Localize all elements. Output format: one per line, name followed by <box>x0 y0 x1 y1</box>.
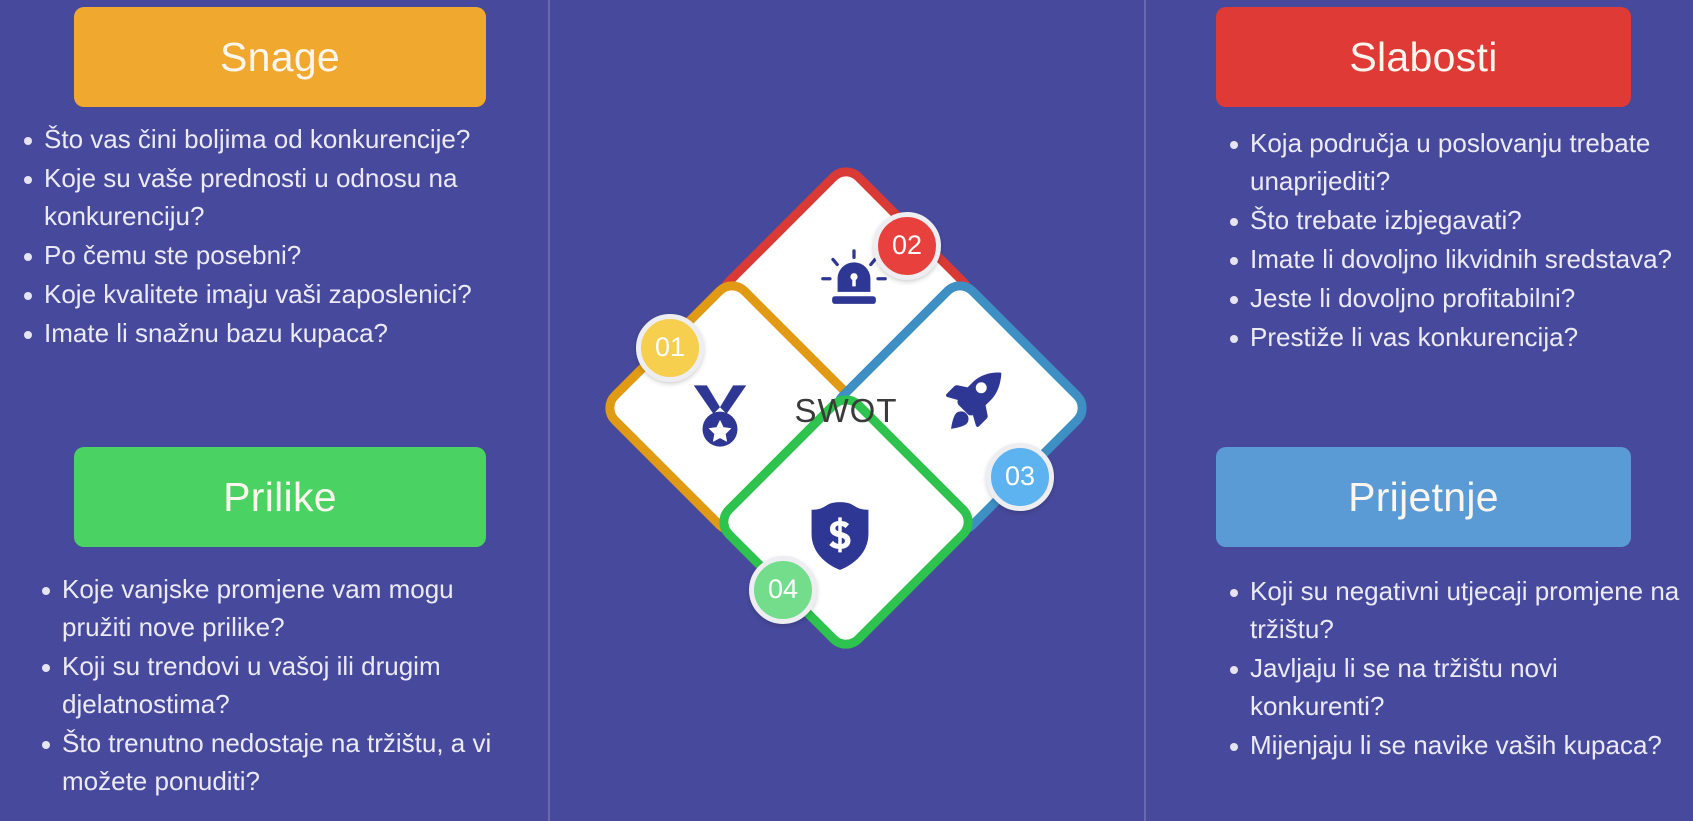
badge-01[interactable]: 01 <box>636 314 704 382</box>
opportunities-title-pill: Prilike <box>74 447 486 547</box>
list-item: Koje su vaše prednosti u odnosu na konku… <box>14 160 528 236</box>
swot-infographic: Snage Što vas čini boljima od konkurenci… <box>0 0 1693 821</box>
list-item: Koji su negativni utjecaji promjene na t… <box>1220 573 1683 649</box>
list-item: Što vas čini boljima od konkurencije? <box>14 121 528 159</box>
list-item: Jeste li dovoljno profitabilni? <box>1220 280 1683 318</box>
list-item: Koje kvalitete imaju vaši zaposlenici? <box>14 276 528 314</box>
list-item: Što trebate izbjegavati? <box>1220 202 1683 240</box>
weaknesses-title-pill: Slabosti <box>1216 7 1631 107</box>
strengths-list: Što vas čini boljima od konkurencije? Ko… <box>14 121 528 353</box>
list-item: Prestiže li vas konkurencija? <box>1220 319 1683 357</box>
list-item: Po čemu ste posebni? <box>14 237 528 275</box>
strengths-title-pill: Snage <box>74 7 486 107</box>
quadrant-opportunities: Prilike Koje vanjske promjene vam mogu p… <box>0 440 548 802</box>
medal-icon <box>685 381 755 451</box>
weaknesses-list: Koja područja u poslovanju trebate unapr… <box>1220 125 1683 357</box>
opportunities-list: Koje vanjske promjene vam mogu pružiti n… <box>32 571 530 801</box>
list-item: Mijenjaju li se navike vaših kupaca? <box>1220 727 1683 765</box>
shield-dollar-icon <box>805 501 875 571</box>
threats-list: Koji su negativni utjecaji promjene na t… <box>1220 573 1683 765</box>
list-item: Imate li dovoljno likvidnih sredstava? <box>1220 241 1683 279</box>
rocket-icon <box>937 367 1007 437</box>
list-item: Imate li snažnu bazu kupaca? <box>14 315 528 353</box>
list-item: Koji su trendovi u vašoj ili drugim djel… <box>32 648 530 724</box>
quadrant-threats: Prijetnje Koji su negativni utjecaji pro… <box>1146 440 1693 766</box>
list-item: Javljaju li se na tržištu novi konkurent… <box>1220 650 1683 726</box>
swot-diamond-diagram: 01 02 03 04 SWOT <box>631 196 1061 626</box>
center-diagram-area: 01 02 03 04 SWOT <box>548 0 1144 821</box>
badge-02[interactable]: 02 <box>873 212 941 280</box>
quadrant-weaknesses: Slabosti Koja područja u poslovanju treb… <box>1146 0 1693 358</box>
swot-center-label: SWOT <box>795 392 898 430</box>
list-item: Koja područja u poslovanju trebate unapr… <box>1220 125 1683 201</box>
badge-04[interactable]: 04 <box>749 556 817 624</box>
list-item: Koje vanjske promjene vam mogu pružiti n… <box>32 571 530 647</box>
badge-03[interactable]: 03 <box>986 443 1054 511</box>
list-item: Što trenutno nedostaje na tržištu, a vi … <box>32 725 530 801</box>
quadrant-strengths: Snage Što vas čini boljima od konkurenci… <box>0 0 548 354</box>
threats-title-pill: Prijetnje <box>1216 447 1631 547</box>
